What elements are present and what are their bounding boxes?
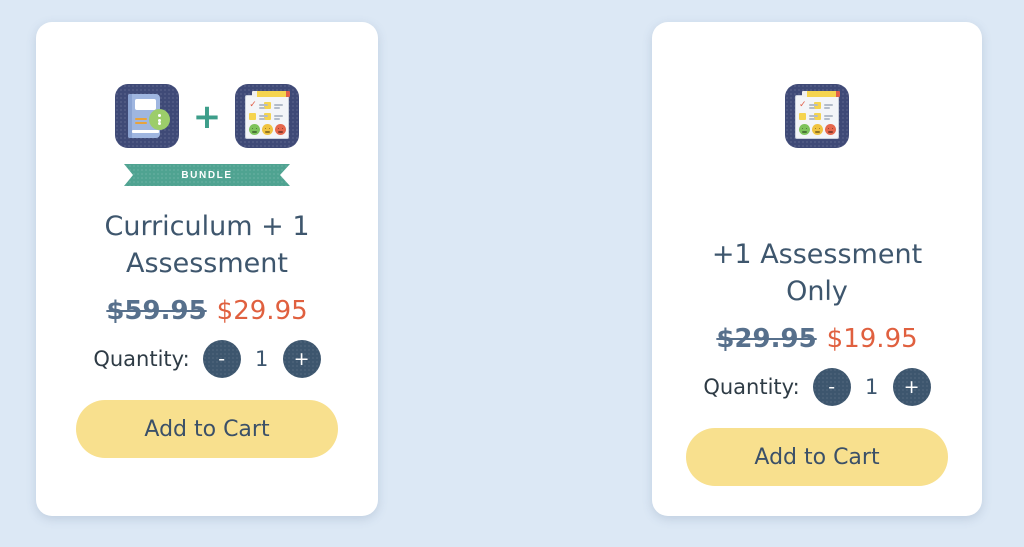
form-text-line	[824, 118, 830, 120]
product-title-line-2: Assessment	[126, 248, 288, 279]
product-icon-row: + ✓	[115, 84, 300, 148]
price-row: $29.95 $19.95	[716, 324, 917, 354]
form-text-line	[824, 104, 833, 106]
product-icon-row: ✓	[785, 84, 849, 148]
form-box	[249, 113, 256, 120]
product-title-line-2: Only	[786, 276, 848, 307]
pencil-icon	[806, 91, 837, 97]
add-to-cart-button[interactable]: Add to Cart	[76, 400, 338, 458]
quantity-stepper: Quantity: - 1 +	[93, 340, 320, 378]
happy-face-icon	[799, 124, 810, 135]
original-price: $29.95	[716, 324, 816, 354]
form-text-line	[274, 104, 283, 106]
form-box	[799, 113, 806, 120]
quantity-label: Quantity:	[703, 375, 799, 399]
ribbon-shape: BUNDLE	[124, 164, 290, 186]
form-text-line	[824, 107, 830, 109]
form-text-line	[274, 115, 283, 117]
assessment-clipboard-icon: ✓	[785, 84, 849, 148]
book-pages	[132, 130, 159, 133]
form-text-line	[274, 107, 280, 109]
ribbon-label: BUNDLE	[181, 170, 232, 181]
sale-price: $29.95	[217, 296, 308, 326]
form-text-line	[809, 115, 818, 117]
product-title: +1 Assessment Only	[665, 236, 969, 310]
original-price: $59.95	[106, 296, 206, 326]
form-text-line	[259, 118, 265, 120]
sad-face-icon	[825, 124, 836, 135]
plus-sign-icon: +	[193, 100, 222, 134]
neutral-face-icon	[812, 124, 823, 135]
bundle-ribbon: BUNDLE	[124, 164, 290, 186]
add-to-cart-button[interactable]: Add to Cart	[686, 428, 948, 486]
book-stripe	[135, 118, 147, 120]
quantity-increment-button[interactable]: +	[283, 340, 321, 378]
form-text-line	[809, 118, 815, 120]
book-info-icon	[115, 84, 179, 148]
quantity-decrement-button[interactable]: -	[203, 340, 241, 378]
quantity-decrement-button[interactable]: -	[813, 368, 851, 406]
quantity-label: Quantity:	[93, 347, 189, 371]
form-text-line	[824, 115, 833, 117]
product-title-line-1: +1 Assessment	[712, 239, 922, 270]
checkmark-icon: ✓	[249, 102, 256, 109]
product-title: Curriculum + 1 Assessment	[50, 208, 365, 282]
form-text-line	[809, 104, 818, 106]
quantity-value: 1	[254, 347, 270, 371]
product-card-assessment-only[interactable]: ✓ +1 Assessment Only $29.95	[652, 22, 982, 516]
form-text-line	[259, 107, 265, 109]
form-text-line	[809, 107, 815, 109]
form-text-line	[274, 118, 280, 120]
product-card-bundle[interactable]: + ✓ BU	[36, 22, 378, 516]
product-cards-stage: + ✓ BU	[0, 0, 1024, 547]
product-title-line-1: Curriculum + 1	[104, 211, 309, 242]
book-label	[135, 99, 156, 110]
price-row: $59.95 $29.95	[106, 296, 307, 326]
form-text-line	[259, 104, 268, 106]
info-badge-icon	[149, 109, 170, 130]
quantity-stepper: Quantity: - 1 +	[703, 368, 930, 406]
quantity-value: 1	[864, 375, 880, 399]
assessment-clipboard-icon: ✓	[235, 84, 299, 148]
checkmark-icon: ✓	[799, 102, 806, 109]
sale-price: $19.95	[827, 324, 918, 354]
quantity-increment-button[interactable]: +	[893, 368, 931, 406]
book-stripe	[135, 122, 147, 124]
pencil-icon	[256, 91, 287, 97]
form-text-line	[259, 115, 268, 117]
